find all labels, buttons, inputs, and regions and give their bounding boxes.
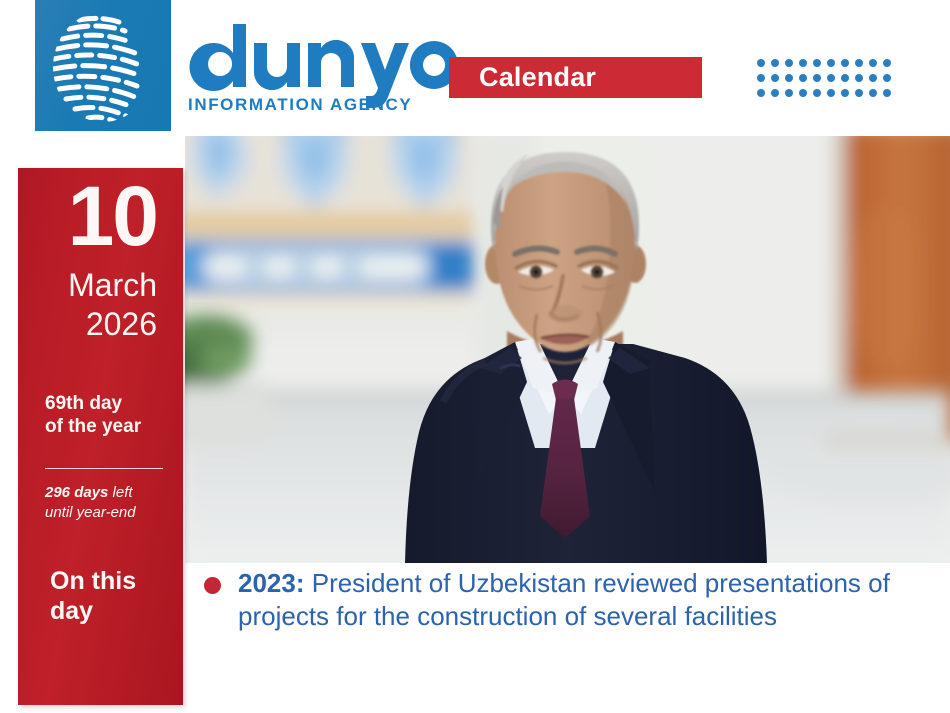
- brand-wordmark: INFORMATION AGENCY: [186, 22, 466, 114]
- on-this-day-line2: day: [50, 597, 136, 627]
- on-this-day-line1: On this: [50, 567, 136, 597]
- event-caption: 2023: President of Uzbekistan reviewed p…: [204, 567, 904, 633]
- dot: [869, 74, 877, 82]
- dot: [855, 59, 863, 67]
- dot: [799, 74, 807, 82]
- dot: [771, 89, 779, 97]
- dot: [869, 89, 877, 97]
- dot: [827, 89, 835, 97]
- dot: [883, 59, 891, 67]
- calendar-card: INFORMATION AGENCY Calendar: [0, 0, 950, 713]
- dot: [813, 59, 821, 67]
- dot: [883, 89, 891, 97]
- dot: [841, 59, 849, 67]
- red-bullet-dot-icon: [204, 577, 221, 594]
- president-portrait-photo: [185, 136, 950, 563]
- dot: [841, 74, 849, 82]
- dot: [785, 74, 793, 82]
- days-left-counter: 296 days left until year-end: [45, 483, 136, 523]
- day-of-year-line2: of the year: [45, 415, 141, 438]
- panel-divider: [45, 468, 163, 469]
- dot: [813, 74, 821, 82]
- dot: [799, 89, 807, 97]
- calendar-badge: Calendar: [449, 57, 702, 98]
- date-panel: 10 March 2026 69th day of the year 296 d…: [18, 168, 183, 705]
- year-number: 2026: [86, 308, 157, 340]
- dot: [869, 59, 877, 67]
- dot-grid-decoration-icon: [757, 59, 897, 104]
- dot: [785, 89, 793, 97]
- day-of-year-line1: 69th day: [45, 392, 141, 415]
- dot: [827, 59, 835, 67]
- dot: [883, 74, 891, 82]
- dot: [855, 89, 863, 97]
- dot: [757, 59, 765, 67]
- caption-year-label: 2023:: [238, 568, 305, 598]
- calendar-badge-label: Calendar: [479, 64, 596, 91]
- dot: [841, 89, 849, 97]
- dunyo-globe-logo-icon: [35, 0, 171, 131]
- days-left-suffix: left: [108, 484, 132, 501]
- month-name: March: [68, 269, 157, 301]
- dot: [771, 59, 779, 67]
- days-left-value: 296 days: [45, 484, 108, 501]
- dot: [855, 74, 863, 82]
- dot: [827, 74, 835, 82]
- on-this-day-heading: On this day: [50, 567, 136, 626]
- dot: [785, 59, 793, 67]
- days-left-line2: until year-end: [45, 503, 136, 523]
- caption-text: 2023: President of Uzbekistan reviewed p…: [238, 567, 904, 633]
- day-of-year-counter: 69th day of the year: [45, 392, 141, 438]
- page-header: INFORMATION AGENCY Calendar: [0, 0, 950, 133]
- caption-body: President of Uzbekistan reviewed present…: [238, 568, 890, 631]
- dot: [813, 89, 821, 97]
- day-number: 10: [68, 174, 157, 258]
- dot: [799, 59, 807, 67]
- dot: [757, 89, 765, 97]
- dot: [757, 74, 765, 82]
- brand-tagline-text: INFORMATION AGENCY: [188, 95, 412, 114]
- dot: [771, 74, 779, 82]
